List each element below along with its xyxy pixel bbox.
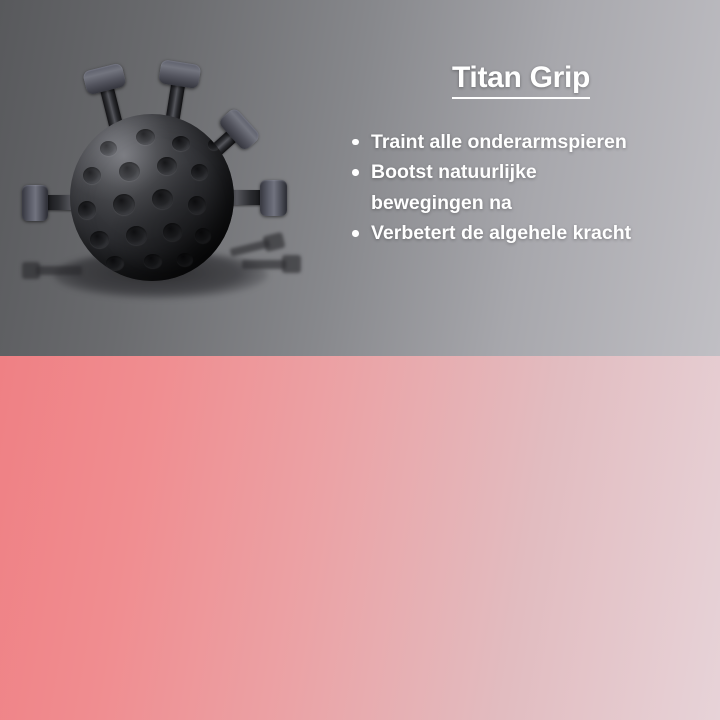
list-item: Traint alle onderarmspieren [330,127,712,158]
comparison-infographic: Titan Grip Traint alle onderarmspieren B… [0,0,720,720]
titan-grip-ball-body [70,114,234,281]
ball-shadow-cap-right [282,255,301,273]
classic-grip-trainer-panel: Klassieke Griptrainers Beperkte spieract… [0,356,720,720]
titan-grip-heading: Titan Grip [330,62,712,99]
titan-grip-benefits-list: Traint alle onderarmspieren Bootst natuu… [330,127,712,249]
bullet-dot-icon [352,139,359,146]
bullet-dot-icon [352,169,359,176]
titan-grip-panel: Titan Grip Traint alle onderarmspieren B… [0,0,720,356]
ball-shadow-cap-left [22,262,40,279]
titan-grip-text-column: Titan Grip Traint alle onderarmspieren B… [330,62,712,249]
ball-shadow-peg-right [242,260,286,269]
list-item: Verbetert de algehele kracht [330,218,712,249]
ball-shadow-cap-upper [262,232,285,252]
list-item: Bootst natuurlijke bewegingen na [330,157,712,218]
titan-grip-product-image [14,48,314,344]
bullet-dot-icon [352,230,359,237]
